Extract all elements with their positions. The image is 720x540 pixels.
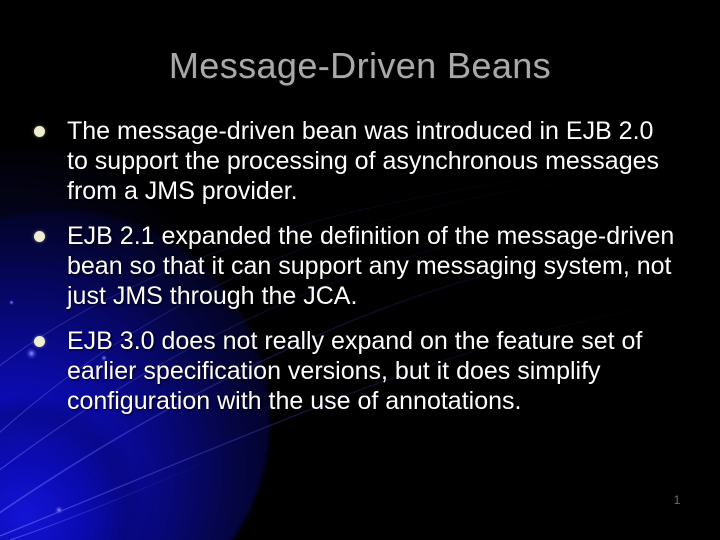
- bullet-item: The message-driven bean was introduced i…: [34, 116, 678, 206]
- slide-canvas: Message-Driven Beans The message-driven …: [0, 0, 720, 540]
- disc-bullet-icon: [34, 231, 45, 242]
- bullet-item-text: EJB 3.0 does not really expand on the fe…: [67, 326, 678, 416]
- disc-bullet-icon: [34, 126, 45, 137]
- glow-dot-icon: [55, 506, 63, 514]
- slide-title: Message-Driven Beans: [0, 45, 720, 87]
- page-number: 1: [660, 493, 694, 507]
- bullet-item: EJB 2.1 expanded the definition of the m…: [34, 221, 678, 311]
- slide-body: The message-driven bean was introduced i…: [34, 116, 678, 431]
- glow-dot-icon: [9, 300, 14, 305]
- bullet-item: EJB 3.0 does not really expand on the fe…: [34, 326, 678, 416]
- disc-bullet-icon: [34, 336, 45, 347]
- bullet-item-text: EJB 2.1 expanded the definition of the m…: [67, 221, 678, 311]
- bullet-item-text: The message-driven bean was introduced i…: [67, 116, 678, 206]
